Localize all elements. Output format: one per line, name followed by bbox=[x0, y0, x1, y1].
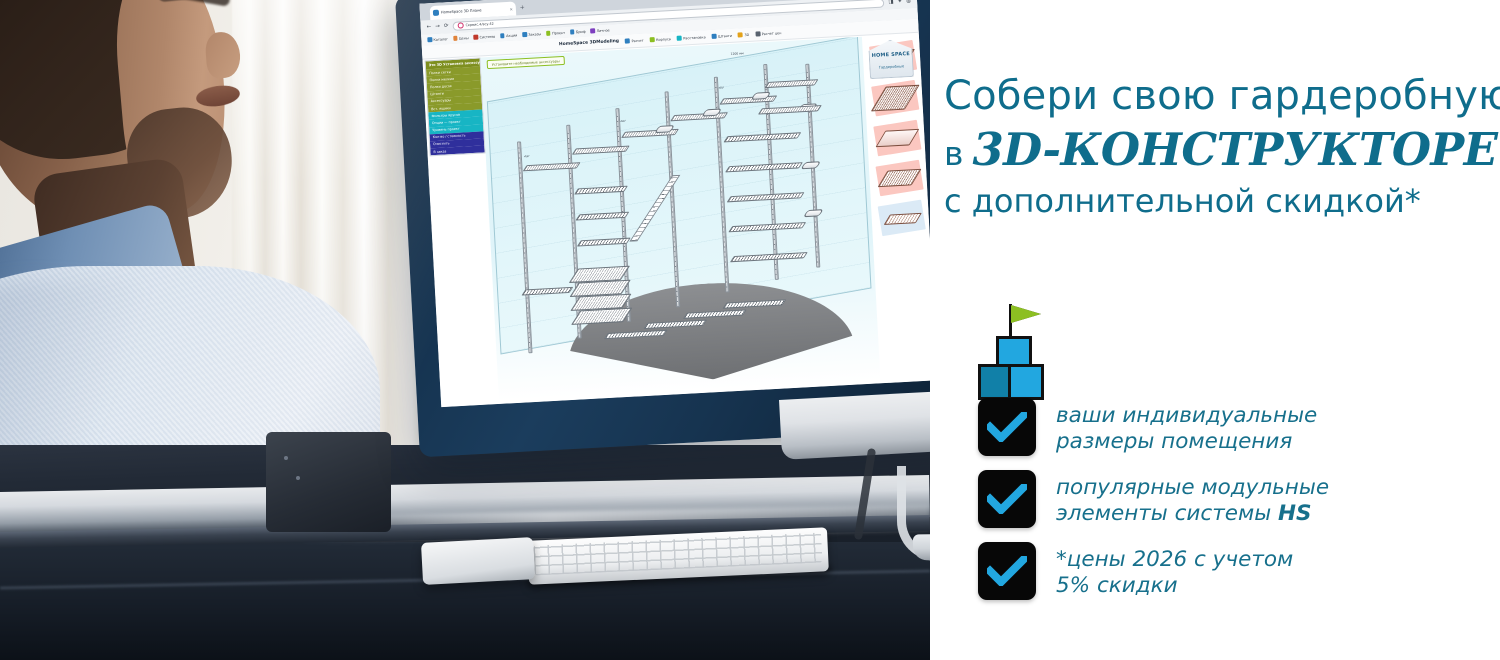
headline-prefix: в bbox=[944, 134, 963, 173]
shoe-rack bbox=[683, 309, 747, 318]
bookmark-item[interactable]: Личное bbox=[590, 28, 609, 34]
slat-shelf bbox=[727, 192, 805, 202]
flag-icon bbox=[1011, 305, 1041, 323]
slat-shelf bbox=[723, 132, 801, 142]
benefit-text: ваши индивидуальные размеры помещения bbox=[1056, 398, 1317, 455]
glass-shelf-icon bbox=[880, 129, 915, 147]
browser-window: HomeSpace 3D Плане ✕ + — ❐ ✕ ← bbox=[419, 0, 930, 407]
benefit-text: *цены 2026 с учетом 5% скидки bbox=[1056, 542, 1293, 599]
toolbar-label: Расчет bbox=[631, 38, 643, 43]
toolbar-label: Корпуса bbox=[656, 37, 671, 42]
tab-title: HomeSpace 3D Плане bbox=[441, 8, 482, 14]
toolbar-button-rasstanovka[interactable]: Расстановка bbox=[677, 34, 706, 41]
palette-item-trouser-rack[interactable] bbox=[879, 200, 925, 236]
bookmark-label: Заказы bbox=[528, 32, 541, 37]
hanger-bracket bbox=[800, 161, 821, 169]
banner-stage: HomeSpace 3D Плане ✕ + — ❐ ✕ ← bbox=[0, 0, 1500, 660]
benefit-line-2: 5% скидки bbox=[1056, 573, 1293, 599]
benefit-line-1: ваши индивидуальные bbox=[1056, 403, 1317, 429]
list-item: популярные модульные элементы системы HS bbox=[978, 470, 1478, 528]
bookmark-label: Бриф bbox=[576, 29, 586, 34]
headline-line-2: в 3D-КОНСТРУКТОРЕ bbox=[944, 123, 1492, 176]
toolbar-button-raschet[interactable]: Расчет bbox=[625, 38, 644, 44]
desk-device-box bbox=[266, 432, 391, 532]
imac-computer: HomeSpace 3D Плане ✕ + — ❐ ✕ ← bbox=[395, 0, 930, 496]
monitor-screen: HomeSpace 3D Плане ✕ + — ❐ ✕ ← bbox=[419, 0, 930, 407]
toolbar-button-raschet-cen[interactable]: Расчет цен bbox=[755, 30, 781, 36]
tab-favicon bbox=[433, 10, 439, 16]
bookmark-item[interactable]: Акции bbox=[500, 33, 517, 38]
app-title: HomeSpace 3DModeling bbox=[559, 39, 619, 47]
workspace-photo: HomeSpace 3D Плане ✕ + — ❐ ✕ ← bbox=[0, 0, 930, 660]
bookmark-item[interactable]: Системы bbox=[473, 34, 495, 40]
shoe-rack bbox=[643, 320, 707, 329]
site-info-icon[interactable] bbox=[457, 22, 463, 28]
bookmark-label: Проект bbox=[552, 30, 565, 35]
headline-line-3: с дополнительной скидкой* bbox=[944, 182, 1492, 220]
palette-item-glass-shelf[interactable] bbox=[875, 120, 921, 156]
trackpad[interactable] bbox=[421, 537, 535, 585]
reload-icon[interactable]: ⟳ bbox=[444, 23, 449, 29]
close-tab-icon[interactable]: ✕ bbox=[509, 6, 513, 11]
bookmark-item[interactable]: Проект bbox=[546, 30, 565, 36]
vertical-post bbox=[517, 141, 533, 353]
toolbar-label: Расчет цен bbox=[762, 31, 782, 36]
benefit-line-1: популярные модульные bbox=[1056, 475, 1329, 501]
bookmark-item[interactable]: Каталог bbox=[427, 36, 448, 42]
list-item: ваши индивидуальные размеры помещения bbox=[978, 398, 1478, 456]
extension-icon[interactable]: ✦ bbox=[897, 0, 902, 5]
dimension-label: 400 bbox=[717, 86, 724, 89]
benefit-text: популярные модульные элементы системы HS bbox=[1056, 470, 1329, 527]
app-sidebar: Это 3D Установка аксессуаров Полки сетки… bbox=[425, 57, 486, 156]
toolbar-label: 3D bbox=[744, 32, 749, 36]
shoe-rack bbox=[722, 299, 786, 308]
vertical-post bbox=[665, 91, 681, 307]
benefits-list: ваши индивидуальные размеры помещения по… bbox=[978, 398, 1478, 614]
headline-emphasis: 3D-КОНСТРУКТОРЕ bbox=[972, 123, 1497, 176]
check-glyph bbox=[987, 484, 1027, 514]
toolbar-label: Штанги bbox=[718, 33, 732, 38]
slat-shelf bbox=[725, 162, 803, 172]
mesh-shelf-icon bbox=[882, 169, 917, 187]
check-glyph bbox=[987, 412, 1027, 442]
wardrobe-assembly: 400 400 400 bbox=[506, 68, 861, 366]
sidebar-item-v-zakaz[interactable]: В заказ bbox=[430, 145, 484, 155]
monitor-bezel: HomeSpace 3D Плане ✕ + — ❐ ✕ ← bbox=[395, 0, 930, 457]
badge-shape bbox=[868, 39, 914, 79]
keyboard-keys bbox=[533, 532, 822, 575]
building-blocks-icon bbox=[978, 300, 1074, 396]
promo-panel: Собери свою гардеробную в 3D-КОНСТРУКТОР… bbox=[930, 0, 1500, 660]
trouser-rack-icon bbox=[884, 209, 919, 227]
bookmark-label: Личное bbox=[596, 28, 609, 33]
slat-shelf bbox=[728, 222, 806, 232]
dimension-label: 400 bbox=[523, 155, 530, 158]
new-tab-button[interactable]: + bbox=[520, 4, 525, 11]
bookmark-label: Акции bbox=[506, 33, 517, 38]
address-bar-text: Сервис.4/всу.42 bbox=[465, 22, 493, 28]
headline: Собери свою гардеробную в 3D-КОНСТРУКТОР… bbox=[944, 76, 1492, 220]
check-glyph bbox=[987, 556, 1027, 586]
block-bottom-right bbox=[1008, 364, 1044, 400]
slat-shelf bbox=[730, 252, 808, 262]
brand-badge: HOME SPACE Гардеробные bbox=[868, 39, 914, 79]
system-brand-hs: HS bbox=[1278, 501, 1311, 526]
checkmark-icon bbox=[978, 470, 1036, 528]
list-item: *цены 2026 с учетом 5% скидки bbox=[978, 542, 1478, 600]
nose bbox=[204, 31, 241, 79]
hanger-bracket bbox=[803, 209, 824, 217]
benefit-line-2: размеры помещения bbox=[1056, 429, 1317, 455]
bookmark-label: Каталог bbox=[433, 37, 448, 42]
toolbar-button-shtangi[interactable]: Штанги bbox=[711, 33, 732, 39]
back-icon[interactable]: ← bbox=[427, 24, 432, 30]
slat-shelf bbox=[521, 287, 573, 296]
palette-item-mesh-shelf[interactable] bbox=[877, 160, 923, 196]
wire-basket-icon bbox=[878, 89, 913, 107]
benefit-line-1: *цены 2026 с учетом bbox=[1056, 547, 1293, 573]
bookmark-item[interactable]: Цены bbox=[453, 35, 469, 40]
headline-line-1: Собери свою гардеробную bbox=[944, 76, 1492, 118]
palette-item-deep-basket[interactable] bbox=[872, 80, 918, 116]
benefit-line-2: элементы системы HS bbox=[1056, 501, 1329, 527]
toolbar-label: Расстановка bbox=[683, 35, 706, 40]
bookmark-item[interactable]: Заказы bbox=[522, 31, 541, 37]
viewport-3d[interactable]: Установите необходимые аксессуары 1200 м… bbox=[480, 37, 880, 401]
bookmark-label: Системы bbox=[479, 34, 495, 39]
profile-icon[interactable]: ◍ bbox=[906, 0, 911, 4]
hint-banner: Установите необходимые аксессуары bbox=[487, 56, 565, 69]
shield-icon[interactable]: ◨ bbox=[888, 0, 894, 5]
toolbar-button-korpusa[interactable]: Корпуса bbox=[649, 36, 671, 42]
shoe-rack bbox=[604, 330, 668, 339]
toolbar-button-3d[interactable]: 3D bbox=[738, 32, 750, 38]
bookmark-item[interactable]: Бриф bbox=[570, 29, 586, 34]
checkmark-icon bbox=[978, 398, 1036, 456]
benefit-line-2-text: элементы системы bbox=[1056, 501, 1278, 526]
bookmark-label: Цены bbox=[459, 36, 469, 41]
forward-icon[interactable]: → bbox=[435, 24, 440, 30]
wire-basket bbox=[571, 308, 632, 325]
checkmark-icon bbox=[978, 542, 1036, 600]
dimension-label: 400 bbox=[619, 120, 626, 123]
